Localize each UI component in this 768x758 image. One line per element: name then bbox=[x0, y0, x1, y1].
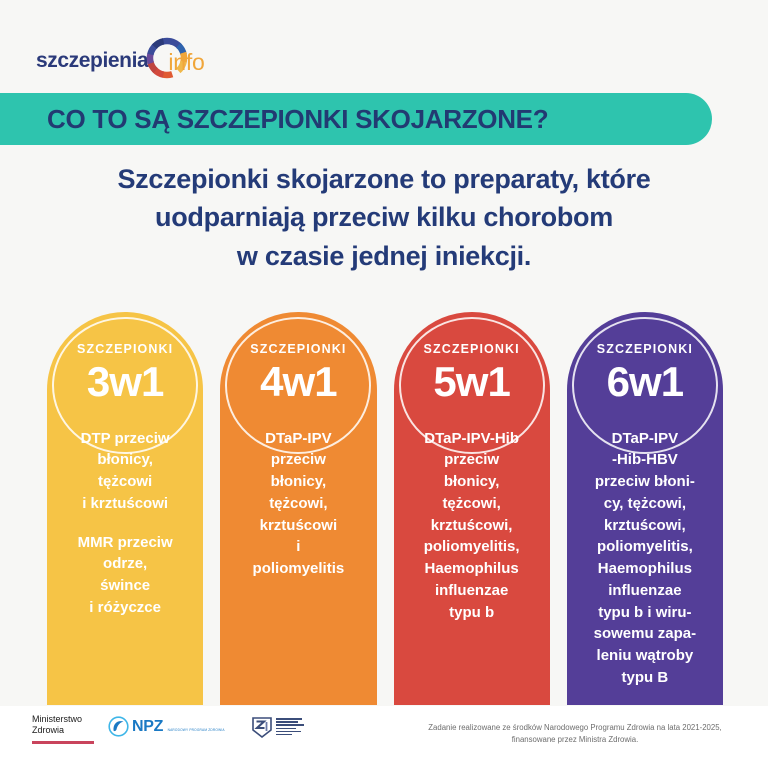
card-body: DTaP-IPV-Hibprzeciwbłonicy,tężcowi,krztu… bbox=[394, 428, 550, 624]
ministry-line-2: Zdrowia bbox=[32, 725, 82, 736]
npz-swirl-icon bbox=[108, 716, 129, 737]
nizp-pzh-logo[interactable] bbox=[251, 716, 304, 738]
vaccine-card-3w1[interactable]: SZCZEPIONKI 3w1 DTP przeciwbłonicy,tężco… bbox=[47, 312, 203, 705]
footer-logo-group: Ministerstwo Zdrowia NPZ NARODOWY PROGRA… bbox=[32, 714, 304, 740]
card-paragraph: MMR przeciwodrze,świncei różyczce bbox=[53, 532, 197, 619]
card-paragraph: DTaP-IPV-Hib-HBVprzeciw błoni-cy, tężcow… bbox=[573, 428, 717, 689]
card-paragraph: DTaP-IPV-Hibprzeciwbłonicy,tężcowi,krztu… bbox=[400, 428, 544, 624]
card-number: 3w1 bbox=[47, 360, 203, 404]
ministry-of-health-logo[interactable]: Ministerstwo Zdrowia bbox=[32, 714, 82, 740]
vaccine-card-6w1[interactable]: SZCZEPIONKI 6w1 DTaP-IPV-Hib-HBVprzeciw … bbox=[567, 312, 723, 705]
logo-suffix: info bbox=[168, 51, 204, 74]
card-header: SZCZEPIONKI 4w1 bbox=[220, 343, 376, 404]
nizp-wordmark bbox=[276, 718, 304, 735]
headline-line-2: uodparniają przeciw kilku chorobom bbox=[0, 198, 768, 236]
nizp-shield-icon bbox=[251, 716, 273, 738]
npz-label: NPZ bbox=[132, 718, 163, 735]
ministry-accent-bar bbox=[32, 741, 94, 744]
card-header: SZCZEPIONKI 6w1 bbox=[567, 343, 723, 404]
footer: Ministerstwo Zdrowia NPZ NARODOWY PROGRA… bbox=[0, 706, 768, 758]
card-number: 4w1 bbox=[220, 360, 376, 404]
funding-note-line-1: Zadanie realizowane ze środków Narodoweg… bbox=[410, 722, 740, 734]
logo-wordmark: szczepienia bbox=[36, 50, 148, 71]
npz-sublabel: NARODOWY PROGRAM ZDROWIA bbox=[168, 728, 225, 732]
vaccine-card-list: SZCZEPIONKI 3w1 DTP przeciwbłonicy,tężco… bbox=[47, 312, 723, 705]
card-paragraph: DTaP-IPVprzeciwbłonicy,tężcowi,krztuścow… bbox=[226, 428, 370, 580]
card-paragraph: DTP przeciwbłonicy,tężcowii krztuścowi bbox=[53, 428, 197, 515]
vaccine-card-5w1[interactable]: SZCZEPIONKI 5w1 DTaP-IPV-Hibprzeciwbłoni… bbox=[394, 312, 550, 705]
npz-logo[interactable]: NPZ NARODOWY PROGRAM ZDROWIA bbox=[108, 716, 225, 737]
card-body: DTP przeciwbłonicy,tężcowii krztuścowiMM… bbox=[47, 428, 203, 619]
vaccine-card-4w1[interactable]: SZCZEPIONKI 4w1 DTaP-IPVprzeciwbłonicy,t… bbox=[220, 312, 376, 705]
card-kicker: SZCZEPIONKI bbox=[567, 343, 723, 356]
card-kicker: SZCZEPIONKI bbox=[220, 343, 376, 356]
card-body: DTaP-IPV-Hib-HBVprzeciw błoni-cy, tężcow… bbox=[567, 428, 723, 689]
ministry-line-1: Ministerstwo bbox=[32, 714, 82, 725]
banner: CO TO SĄ SZCZEPIONKI SKOJARZONE? bbox=[0, 93, 712, 145]
card-header: SZCZEPIONKI 5w1 bbox=[394, 343, 550, 404]
banner-title: CO TO SĄ SZCZEPIONKI SKOJARZONE? bbox=[47, 104, 548, 135]
headline: Szczepionki skojarzone to preparaty, któ… bbox=[0, 160, 768, 275]
card-kicker: SZCZEPIONKI bbox=[47, 343, 203, 356]
headline-line-1: Szczepionki skojarzone to preparaty, któ… bbox=[0, 160, 768, 198]
card-kicker: SZCZEPIONKI bbox=[394, 343, 550, 356]
card-body: DTaP-IPVprzeciwbłonicy,tężcowi,krztuścow… bbox=[220, 428, 376, 580]
card-header: SZCZEPIONKI 3w1 bbox=[47, 343, 203, 404]
card-number: 6w1 bbox=[567, 360, 723, 404]
funding-note-line-2: finansowane przez Ministra Zdrowia. bbox=[410, 734, 740, 746]
funding-note: Zadanie realizowane ze środków Narodoweg… bbox=[410, 722, 740, 745]
site-logo[interactable]: szczepienia info bbox=[36, 36, 205, 84]
card-number: 5w1 bbox=[394, 360, 550, 404]
headline-line-3: w czasie jednej iniekcji. bbox=[0, 237, 768, 275]
